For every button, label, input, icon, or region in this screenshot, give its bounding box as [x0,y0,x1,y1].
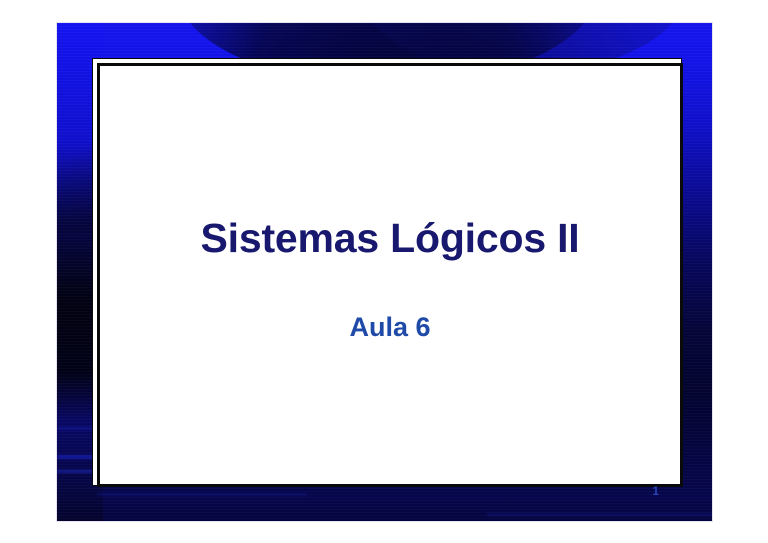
presentation-page: Sistemas Lógicos II Aula 6 1 [0,0,768,543]
slide-content-area: Sistemas Lógicos II Aula 6 [100,66,680,484]
slide-subtitle: Aula 6 [349,313,430,343]
slide: Sistemas Lógicos II Aula 6 1 [57,23,712,521]
slide-title: Sistemas Lógicos II [201,216,580,261]
page-number: 1 [652,485,659,497]
